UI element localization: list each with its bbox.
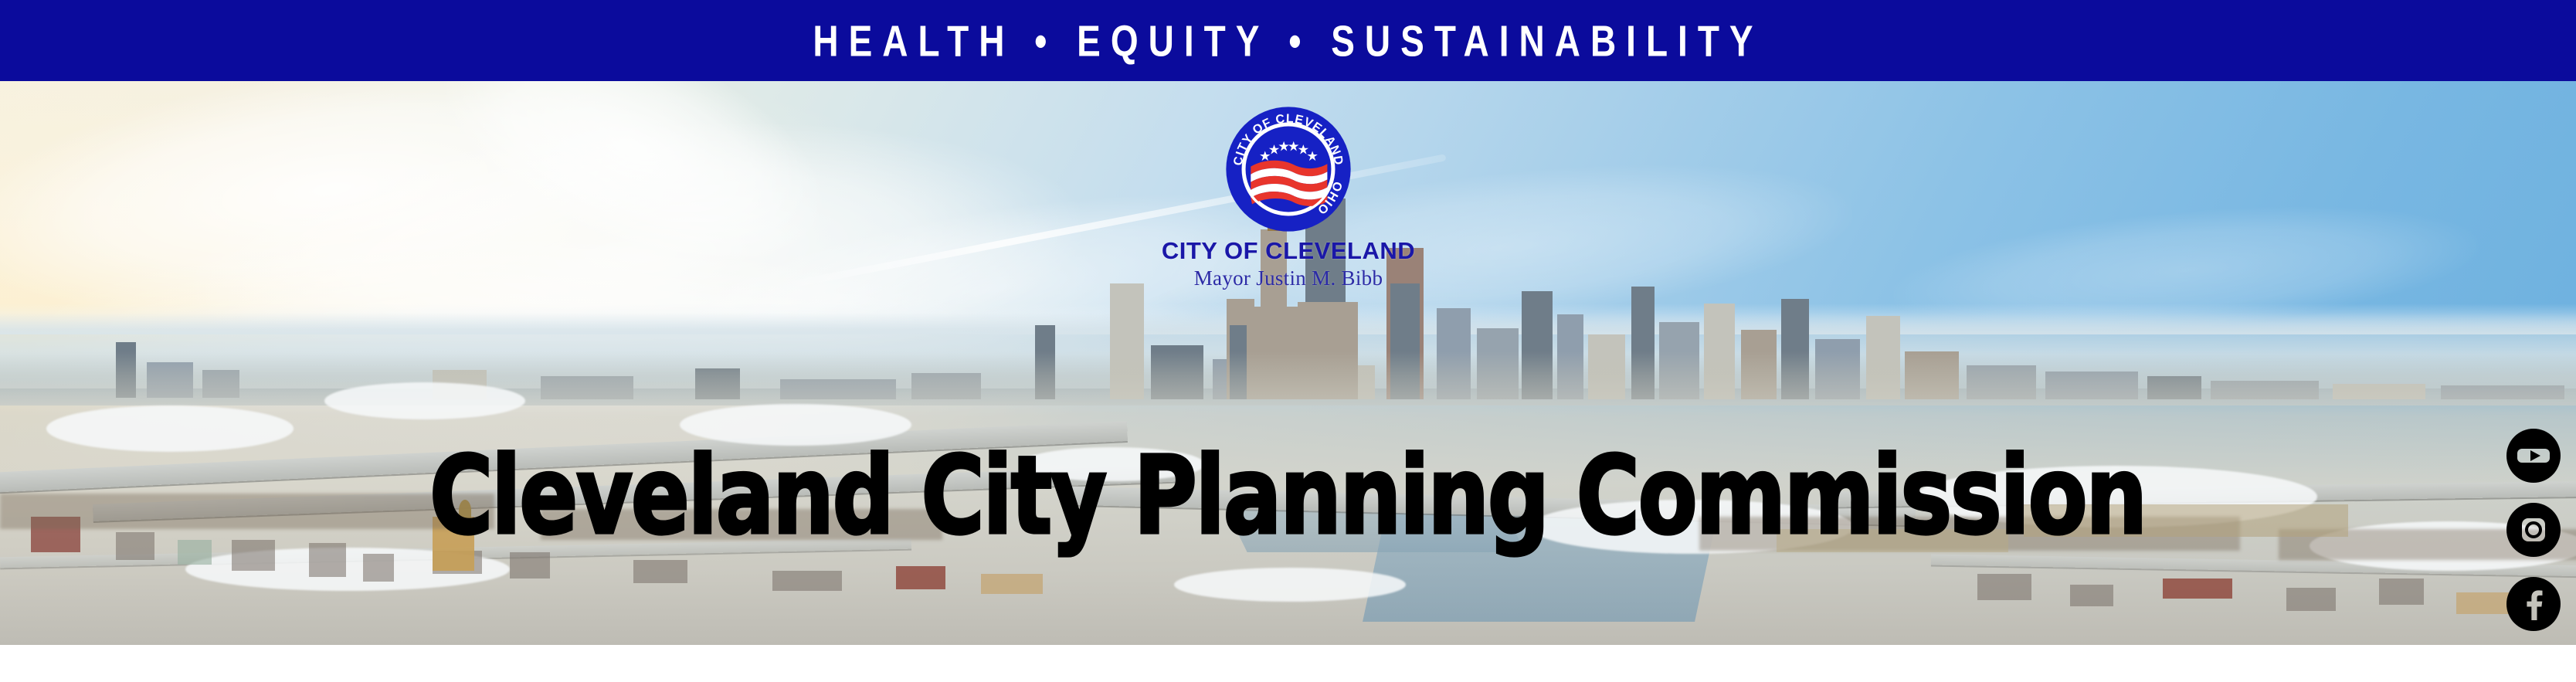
tagline-banner: HEALTH • EQUITY • SUSTAINABILITY <box>0 0 2576 81</box>
tagline-text: HEALTH • EQUITY • SUSTAINABILITY <box>813 15 1763 66</box>
city-identity-block: CITY OF CLEVELAND OHIO CITY OF CLEVELAND… <box>1099 104 1478 336</box>
city-of-cleveland-seal-icon: CITY OF CLEVELAND OHIO <box>1224 104 1353 234</box>
facebook-icon[interactable] <box>2506 577 2561 631</box>
page-root: HEALTH • EQUITY • SUSTAINABILITY <box>0 0 2576 682</box>
mayor-name-label: Mayor Justin M. Bibb <box>1099 266 1478 290</box>
footer-whitespace <box>0 645 2576 682</box>
hero-photo: CITY OF CLEVELAND OHIO CITY OF CLEVELAND… <box>0 81 2576 645</box>
instagram-icon[interactable] <box>2506 503 2561 557</box>
city-name-label: CITY OF CLEVELAND <box>1099 239 1478 264</box>
youtube-icon[interactable] <box>2506 429 2561 483</box>
social-links <box>2506 429 2561 631</box>
